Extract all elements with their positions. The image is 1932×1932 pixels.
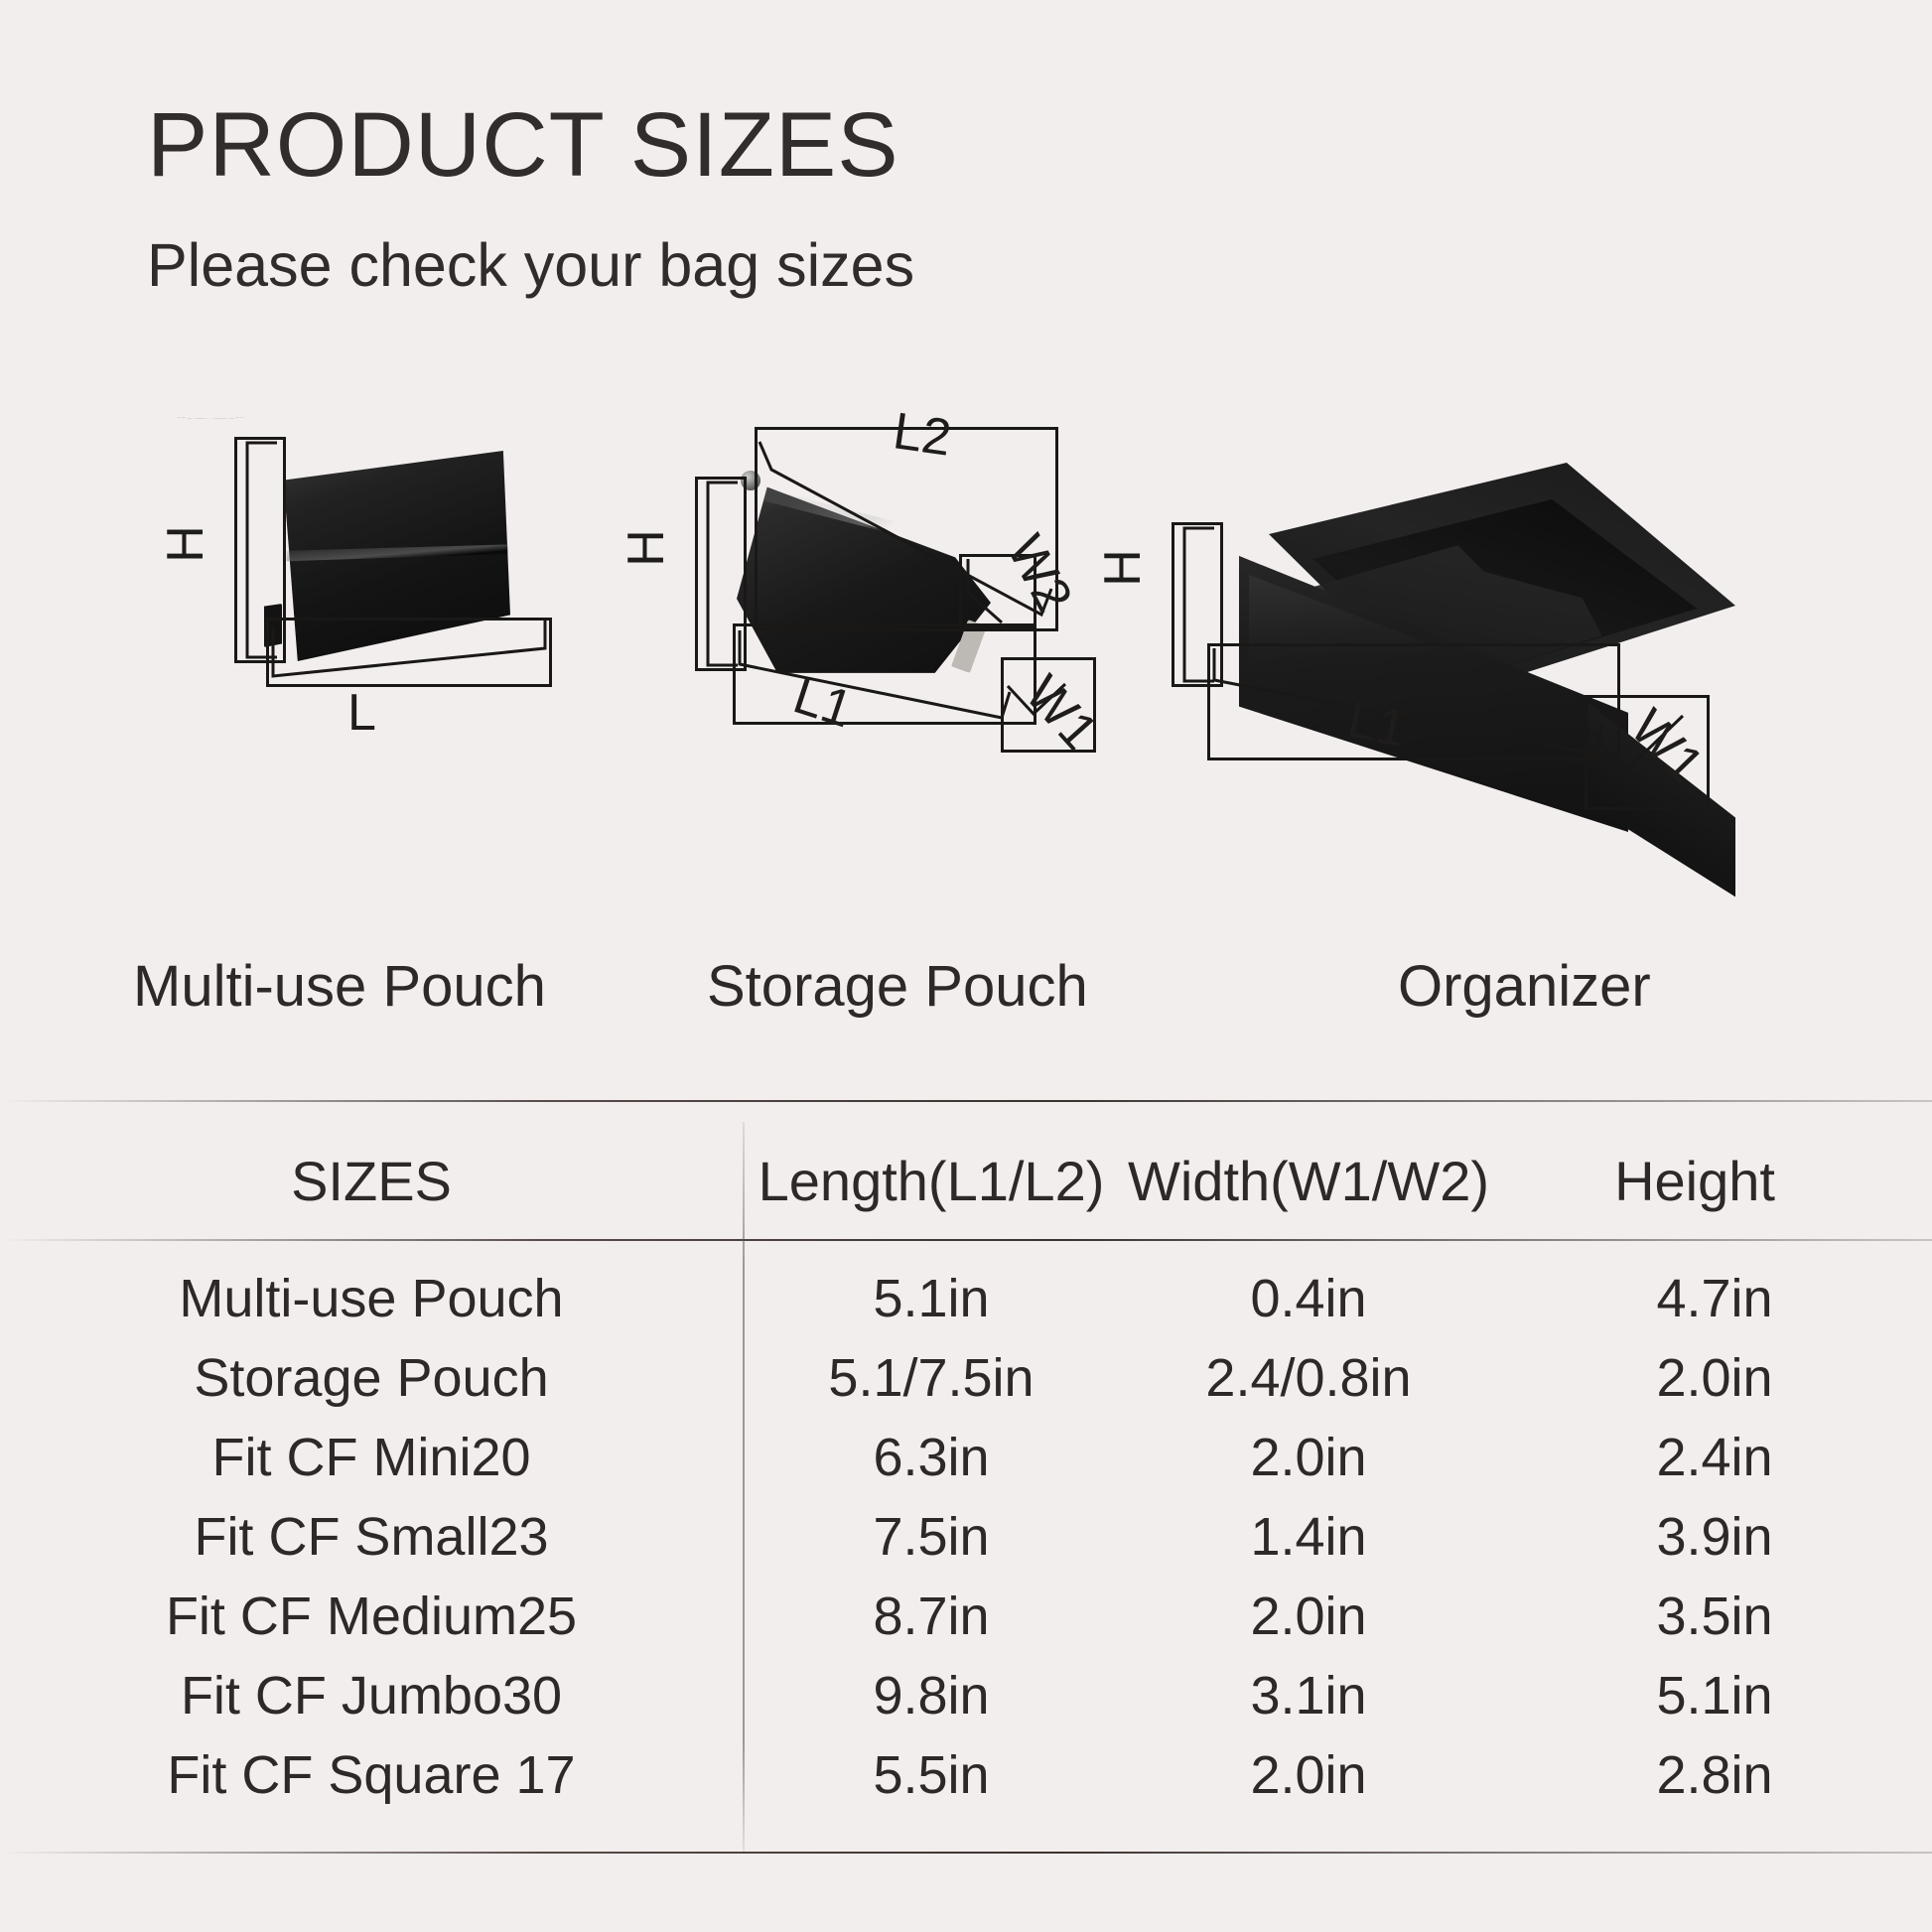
cell-size: Multi-use Pouch (0, 1268, 743, 1329)
storage-pouch-l2-label: L2 (890, 401, 955, 468)
header: PRODUCT SIZES Please check your bag size… (147, 99, 914, 300)
column-header-sizes: SIZES (0, 1149, 743, 1213)
column-header-length: Length(L1/L2) (743, 1149, 1120, 1213)
caption-storage-pouch: Storage Pouch (707, 953, 1088, 1020)
cell-height: 5.1in (1497, 1665, 1932, 1726)
storage-pouch-l1-bracket (733, 623, 1036, 725)
table-row: Storage Pouch 5.1/7.5in 2.4/0.8in 2.0in (0, 1338, 1932, 1418)
cell-size: Fit CF Jumbo30 (0, 1665, 743, 1726)
cell-height: 4.7in (1497, 1268, 1932, 1329)
table-row: Fit CF Medium25 8.7in 2.0in 3.5in (0, 1577, 1932, 1656)
cell-width: 3.1in (1120, 1665, 1497, 1726)
table-row: Fit CF Mini20 6.3in 2.0in 2.4in (0, 1418, 1932, 1497)
cell-height: 2.8in (1497, 1744, 1932, 1806)
divider-below-table (0, 1852, 1932, 1854)
cell-size: Fit CF Small23 (0, 1506, 743, 1568)
table-row: Multi-use Pouch 5.1in 0.4in 4.7in (0, 1259, 1932, 1338)
decorative-dash (151, 397, 270, 419)
cell-height: 2.4in (1497, 1427, 1932, 1488)
cell-size: Fit CF Medium25 (0, 1586, 743, 1647)
multi-use-pouch-length-bracket (266, 618, 552, 687)
column-header-height: Height (1497, 1149, 1932, 1213)
organizer-height-label: H (1093, 549, 1153, 587)
multi-use-pouch-length-label: L (347, 683, 376, 743)
table-row: Fit CF Square 17 5.5in 2.0in 2.8in (0, 1735, 1932, 1815)
product-illustrations: H L L2 H (0, 427, 1932, 903)
cell-size: Storage Pouch (0, 1347, 743, 1409)
table-row: Fit CF Small23 7.5in 1.4in 3.9in (0, 1497, 1932, 1577)
cell-width: 1.4in (1120, 1506, 1497, 1568)
cell-length: 5.1/7.5in (743, 1347, 1120, 1409)
caption-multi-use-pouch: Multi-use Pouch (133, 953, 546, 1020)
cell-height: 3.9in (1497, 1506, 1932, 1568)
cell-size: Fit CF Mini20 (0, 1427, 743, 1488)
organizer-l1-bracket (1207, 643, 1620, 760)
cell-width: 0.4in (1120, 1268, 1497, 1329)
page-title: PRODUCT SIZES (147, 99, 914, 191)
cell-length: 6.3in (743, 1427, 1120, 1488)
page-subtitle: Please check your bag sizes (147, 191, 914, 300)
divider-above-table (0, 1100, 1932, 1102)
multi-use-pouch-height-label: H (156, 525, 215, 563)
cell-length: 8.7in (743, 1586, 1120, 1647)
cell-width: 2.0in (1120, 1744, 1497, 1806)
cell-height: 3.5in (1497, 1586, 1932, 1647)
table-header-row: SIZES Length(L1/L2) Width(W1/W2) Height (0, 1122, 1932, 1239)
cell-length: 5.5in (743, 1744, 1120, 1806)
cell-width: 2.0in (1120, 1427, 1497, 1488)
caption-organizer: Organizer (1398, 953, 1651, 1020)
cell-length: 5.1in (743, 1268, 1120, 1329)
column-header-width: Width(W1/W2) (1120, 1149, 1497, 1213)
cell-length: 9.8in (743, 1665, 1120, 1726)
organizer-l1-label: L1 (1342, 690, 1411, 760)
cell-length: 7.5in (743, 1506, 1120, 1568)
table-row: Fit CF Jumbo30 9.8in 3.1in 5.1in (0, 1656, 1932, 1735)
cell-height: 2.0in (1497, 1347, 1932, 1409)
size-table: SIZES Length(L1/L2) Width(W1/W2) Height … (0, 1122, 1932, 1815)
storage-pouch-height-label: H (617, 529, 676, 567)
cell-width: 2.0in (1120, 1586, 1497, 1647)
cell-width: 2.4/0.8in (1120, 1347, 1497, 1409)
product-sizes-infographic: PRODUCT SIZES Please check your bag size… (0, 0, 1932, 1932)
cell-size: Fit CF Square 17 (0, 1744, 743, 1806)
